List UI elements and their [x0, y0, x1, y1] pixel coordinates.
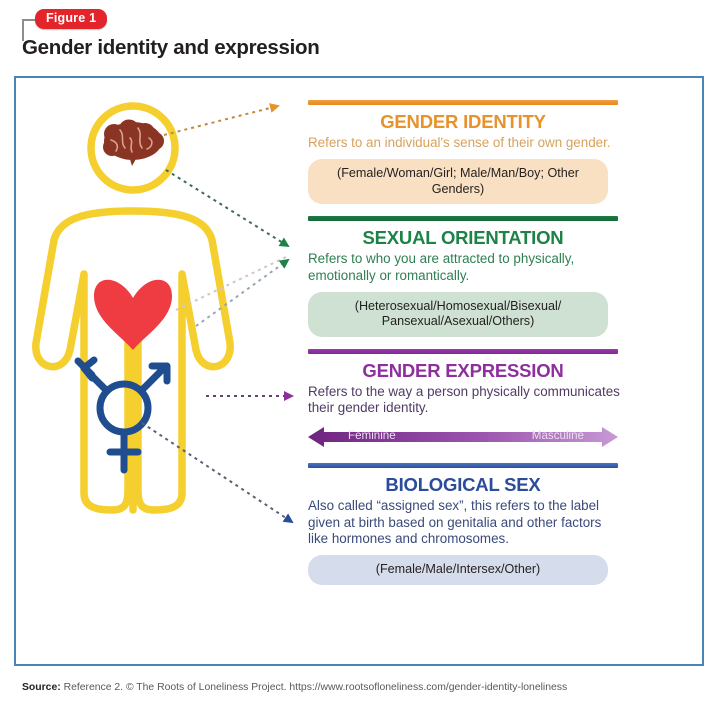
spectrum-label-feminine: Feminine [348, 429, 396, 442]
section-rule-gender-identity [308, 100, 618, 105]
gender-expression-spectrum: Feminine Masculine [308, 425, 618, 449]
source-label: Source: [22, 682, 61, 693]
figure-header: Figure 1 [0, 0, 720, 34]
source-line: Source: Reference 2. © The Roots of Lone… [22, 682, 567, 693]
section-title-gender-expression: GENDER EXPRESSION [308, 360, 618, 381]
spectrum-label-masculine: Masculine [532, 429, 584, 442]
transgender-symbol-icon [78, 360, 167, 470]
section-title-sexual-orientation: SEXUAL ORIENTATION [308, 227, 618, 248]
figure-badge: Figure 1 [35, 9, 107, 29]
connector-brain-to-gender-identity [164, 106, 278, 135]
section-biological-sex: BIOLOGICAL SEX Also called “assigned sex… [308, 463, 688, 584]
section-sexual-orientation: SEXUAL ORIENTATION Refers to who you are… [308, 216, 688, 337]
section-title-biological-sex: BIOLOGICAL SEX [308, 474, 618, 495]
source-text: Reference 2. © The Roots of Loneliness P… [61, 682, 567, 693]
section-gender-expression: GENDER EXPRESSION Refers to the way a pe… [308, 349, 688, 450]
sections-column: GENDER IDENTITY Refers to an individual'… [308, 100, 688, 588]
section-body-gender-expression: Refers to the way a person physically co… [308, 384, 621, 417]
section-body-sexual-orientation: Refers to who you are attracted to physi… [308, 251, 621, 284]
heart-icon [94, 280, 172, 350]
section-rule-gender-expression [308, 349, 618, 354]
connector-heart-dotted [176, 256, 288, 310]
right-side-outline [133, 211, 230, 510]
figure-panel: GENDER IDENTITY Refers to an individual'… [14, 76, 704, 666]
section-pill-sexual-orientation: (Heterosexual/Homosexual/Bisexual/ Panse… [308, 292, 608, 337]
section-pill-biological-sex: (Female/Male/Intersex/Other) [308, 555, 608, 585]
human-body-illustration [16, 78, 306, 664]
section-gender-identity: GENDER IDENTITY Refers to an individual'… [308, 100, 688, 204]
brain-icon [103, 120, 164, 167]
section-body-biological-sex: Also called “assigned sex”, this refers … [308, 498, 621, 547]
section-pill-gender-identity: (Female/Woman/Girl; Male/Man/Boy; Other … [308, 159, 608, 204]
connector-head-to-sexual-orientation [166, 170, 288, 246]
left-side-outline [36, 211, 133, 510]
section-rule-biological-sex [308, 463, 618, 468]
section-body-gender-identity: Refers to an individual's sense of their… [308, 135, 621, 151]
section-title-gender-identity: GENDER IDENTITY [308, 111, 618, 132]
section-rule-sexual-orientation [308, 216, 618, 221]
page-title: Gender identity and expression [22, 36, 319, 60]
